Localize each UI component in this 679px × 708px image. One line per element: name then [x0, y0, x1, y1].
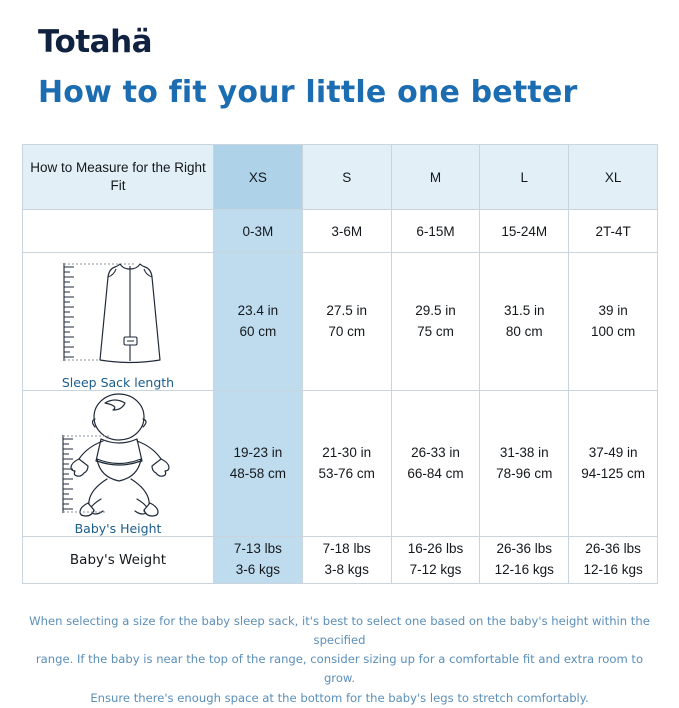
table-row-baby-weight: Baby's Weight 7-13 lbs 3-6 kgs 7-18 lbs … [23, 537, 658, 584]
baby-weight-xl: 26-36 lbs 12-16 kgs [569, 537, 658, 584]
value-imperial: 27.5 in [303, 301, 391, 322]
sizing-note-line-2: range. If the baby is near the top of th… [22, 650, 657, 688]
sizing-note-line-3: Ensure there's enough space at the botto… [22, 689, 657, 708]
sleep-sack-length-m: 29.5 in 75 cm [391, 253, 480, 391]
value-metric: 94-125 cm [569, 464, 657, 485]
caption-sleep-sack-length: Sleep Sack length [62, 375, 174, 390]
header-size-l[interactable]: L [480, 145, 569, 210]
value-metric: 66-84 cm [392, 464, 480, 485]
value-metric: 75 cm [392, 322, 480, 343]
value-imperial: 21-30 in [303, 443, 391, 464]
value-imperial: 16-26 lbs [392, 539, 480, 560]
baby-height-s: 21-30 in 53-76 cm [302, 391, 391, 537]
value-imperial: 23.4 in [214, 301, 302, 322]
baby-weight-m: 16-26 lbs 7-12 kgs [391, 537, 480, 584]
value-metric: 70 cm [303, 322, 391, 343]
header-size-s[interactable]: S [302, 145, 391, 210]
table-header-row: How to Measure for the Right Fit XS S M … [23, 145, 658, 210]
age-xl: 2T-4T [569, 210, 658, 253]
table-row-sleep-sack-length: Sleep Sack length 23.4 in 60 cm 27.5 in … [23, 253, 658, 391]
sleep-sack-length-xs: 23.4 in 60 cm [214, 253, 303, 391]
sizing-note-line-1: When selecting a size for the baby sleep… [22, 612, 657, 650]
baby-height-xs: 19-23 in 48-58 cm [214, 391, 303, 537]
age-l: 15-24M [480, 210, 569, 253]
baby-weight-s: 7-18 lbs 3-8 kgs [302, 537, 391, 584]
age-row-label [23, 210, 214, 253]
caption-baby-height: Baby's Height [75, 521, 162, 536]
value-metric: 7-12 kgs [392, 560, 480, 581]
age-s: 3-6M [302, 210, 391, 253]
value-metric: 53-76 cm [303, 464, 391, 485]
size-chart-container: How to Measure for the Right Fit XS S M … [22, 144, 657, 584]
sleep-sack-length-s: 27.5 in 70 cm [302, 253, 391, 391]
sizing-note: When selecting a size for the baby sleep… [22, 612, 657, 708]
value-metric: 3-6 kgs [214, 560, 302, 581]
baby-height-m: 26-33 in 66-84 cm [391, 391, 480, 537]
value-metric: 100 cm [569, 322, 657, 343]
size-chart-table: How to Measure for the Right Fit XS S M … [22, 144, 658, 584]
value-imperial: 26-36 lbs [480, 539, 568, 560]
value-metric: 3-8 kgs [303, 560, 391, 581]
value-metric: 78-96 cm [480, 464, 568, 485]
value-metric: 80 cm [480, 322, 568, 343]
sleep-sack-length-xl: 39 in 100 cm [569, 253, 658, 391]
baby-illustration [33, 391, 203, 519]
baby-height-xl: 37-49 in 94-125 cm [569, 391, 658, 537]
value-metric: 12-16 kgs [569, 560, 657, 581]
header-size-xs[interactable]: XS [214, 145, 303, 210]
value-metric: 48-58 cm [214, 464, 302, 485]
table-row-age: 0-3M 3-6M 6-15M 15-24M 2T-4T [23, 210, 658, 253]
age-xs: 0-3M [214, 210, 303, 253]
value-imperial: 29.5 in [392, 301, 480, 322]
value-imperial: 26-33 in [392, 443, 480, 464]
value-metric: 12-16 kgs [480, 560, 568, 581]
value-imperial: 31-38 in [480, 443, 568, 464]
sleep-sack-illustration [38, 253, 198, 373]
baby-weight-l: 26-36 lbs 12-16 kgs [480, 537, 569, 584]
page-title: How to fit your little one better [38, 76, 577, 109]
value-imperial: 26-36 lbs [569, 539, 657, 560]
sleep-sack-length-l: 31.5 in 80 cm [480, 253, 569, 391]
value-imperial: 39 in [569, 301, 657, 322]
baby-height-l: 31-38 in 78-96 cm [480, 391, 569, 537]
baby-weight-xs: 7-13 lbs 3-6 kgs [214, 537, 303, 584]
brand-logo: Totahä [38, 27, 152, 58]
value-metric: 60 cm [214, 322, 302, 343]
header-measure-label: How to Measure for the Right Fit [23, 145, 214, 210]
caption-baby-weight: Baby's Weight [23, 537, 214, 584]
header-size-m[interactable]: M [391, 145, 480, 210]
sleep-sack-illustration-cell: Sleep Sack length [23, 253, 214, 391]
age-m: 6-15M [391, 210, 480, 253]
table-row-baby-height: Baby's Height 19-23 in 48-58 cm 21-30 in… [23, 391, 658, 537]
value-imperial: 19-23 in [214, 443, 302, 464]
value-imperial: 37-49 in [569, 443, 657, 464]
value-imperial: 31.5 in [480, 301, 568, 322]
value-imperial: 7-18 lbs [303, 539, 391, 560]
header-size-xl[interactable]: XL [569, 145, 658, 210]
value-imperial: 7-13 lbs [214, 539, 302, 560]
baby-illustration-cell: Baby's Height [23, 391, 214, 537]
